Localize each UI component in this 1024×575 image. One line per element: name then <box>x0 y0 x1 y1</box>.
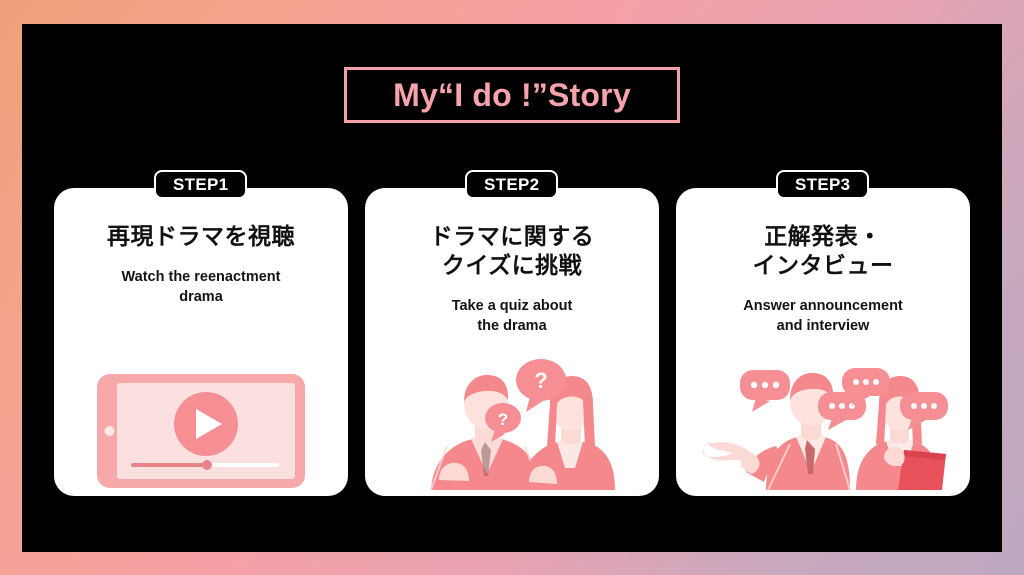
step-card-3[interactable]: 正解発表・ インタビュー Answer announcement and int… <box>676 188 970 496</box>
slide-title-box: My“I do !”Story <box>344 67 680 123</box>
step-card-2-title-jp-line1: ドラマに関する <box>379 222 645 251</box>
step-badge-1[interactable]: STEP1 <box>154 170 247 199</box>
step-card-3-title-en: Answer announcement and interview <box>690 296 956 336</box>
step-card-1-title-en-line1: Watch the reenactment <box>68 267 334 287</box>
step-card-1[interactable]: 再現ドラマを視聴 Watch the reenactment drama <box>54 188 348 496</box>
step-card-2-title-en-line1: Take a quiz about <box>379 296 645 316</box>
step-card-2-title-jp: ドラマに関する クイズに挑戦 <box>379 222 645 280</box>
step-card-2-title-en: Take a quiz about the drama <box>379 296 645 336</box>
step-card-1-title-jp: 再現ドラマを視聴 <box>68 222 334 251</box>
svg-text:?: ? <box>498 410 508 429</box>
interview-people-icon <box>676 342 970 490</box>
step-card-3-title-jp-line2: インタビュー <box>690 251 956 280</box>
step-card-1-title-en-line2: drama <box>68 287 334 307</box>
step-badge-3[interactable]: STEP3 <box>776 170 869 199</box>
step-card-2-title-jp-line2: クイズに挑戦 <box>379 251 645 280</box>
step-card-1-body: 再現ドラマを視聴 Watch the reenactment drama <box>54 188 348 307</box>
page-title: My“I do !”Story <box>393 79 631 111</box>
step-card-3-title-jp-line1: 正解発表・ <box>690 222 956 251</box>
step-card-3-title-jp: 正解発表・ インタビュー <box>690 222 956 280</box>
step-card-3-title-en-line2: and interview <box>690 316 956 336</box>
tablet-video-icon <box>54 342 348 490</box>
step-card-2[interactable]: ドラマに関する クイズに挑戦 Take a quiz about the dra… <box>365 188 659 496</box>
step-card-3-body: 正解発表・ インタビュー Answer announcement and int… <box>676 188 970 336</box>
step-card-3-title-en-line1: Answer announcement <box>690 296 956 316</box>
step-card-2-body: ドラマに関する クイズに挑戦 Take a quiz about the dra… <box>365 188 659 336</box>
step-badge-2[interactable]: STEP2 <box>465 170 558 199</box>
step-card-1-title-jp-line1: 再現ドラマを視聴 <box>68 222 334 251</box>
quiz-people-icon: ? ? <box>365 342 659 490</box>
step-card-2-title-en-line2: the drama <box>379 316 645 336</box>
step-card-1-title-en: Watch the reenactment drama <box>68 267 334 307</box>
svg-text:?: ? <box>534 368 547 393</box>
